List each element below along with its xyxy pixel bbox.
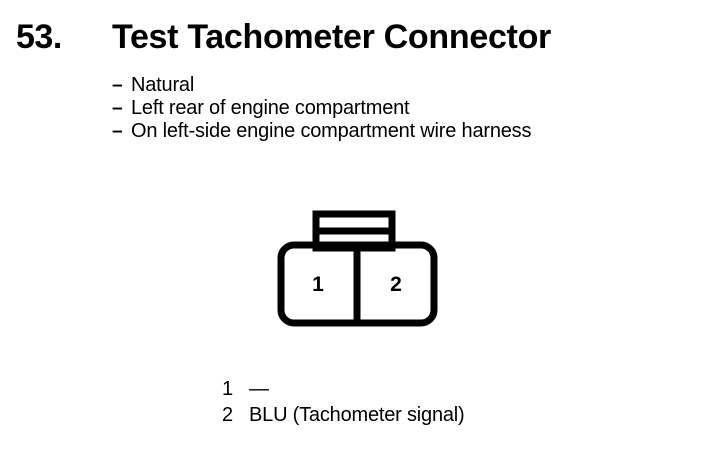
cavity-number-2: 2: [390, 273, 402, 296]
descriptor-text: Natural: [131, 74, 194, 96]
descriptor-text: On left-side engine compartment wire har…: [131, 120, 531, 142]
connector-diagram: 1 2: [270, 206, 445, 331]
legend-row: 1 —: [222, 376, 642, 402]
legend-pin-number: 1: [222, 376, 249, 402]
dash-bullet-icon: –: [112, 75, 131, 97]
connector-descriptor-list: – Natural – Left rear of engine compartm…: [112, 74, 692, 143]
dash-bullet-icon: –: [112, 98, 131, 120]
list-item: – On left-side engine compartment wire h…: [112, 120, 692, 143]
cavity-number-1: 1: [312, 273, 324, 296]
legend-wire-color: BLU (Tachometer signal): [249, 402, 465, 428]
list-item: – Left rear of engine compartment: [112, 97, 692, 120]
pin-legend: 1 — 2 BLU (Tachometer signal): [222, 376, 642, 428]
legend-wire-color: —: [249, 376, 269, 402]
heading-title-text: Test Tachometer Connector: [112, 20, 551, 54]
page-title: 53. Test Tachometer Connector: [16, 20, 688, 54]
dash-bullet-icon: –: [112, 121, 131, 143]
legend-pin-number: 2: [222, 402, 249, 428]
descriptor-text: Left rear of engine compartment: [131, 97, 409, 119]
legend-row: 2 BLU (Tachometer signal): [222, 402, 642, 428]
heading-item-number: 53.: [16, 20, 112, 54]
list-item: – Natural: [112, 74, 692, 97]
